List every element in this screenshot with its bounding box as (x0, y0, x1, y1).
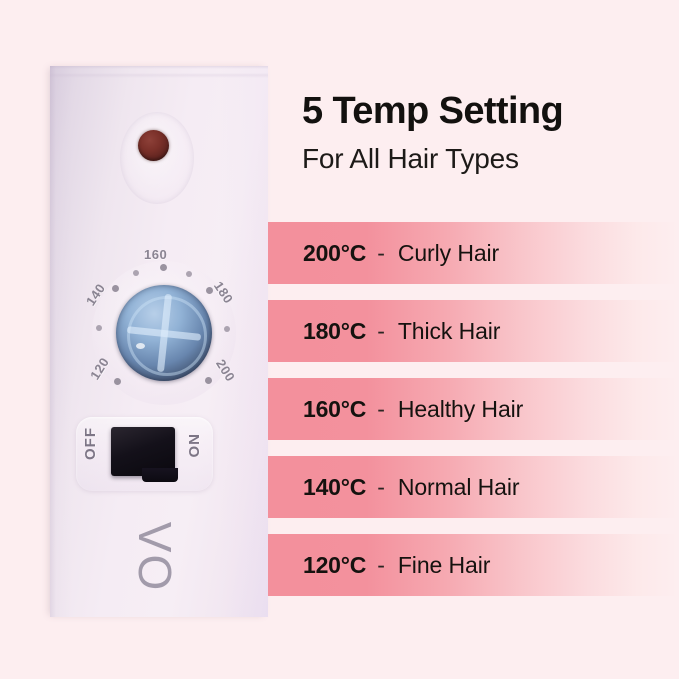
temperature-dial[interactable]: 120 140 160 180 200 (78, 247, 250, 419)
separator-dash: - (377, 240, 385, 267)
power-switch-rocker[interactable] (111, 427, 175, 476)
separator-dash: - (377, 552, 385, 579)
list-item: 120°C - Fine Hair (268, 534, 679, 596)
dial-tick-minor-3 (96, 325, 102, 331)
hair-type-label: Thick Hair (398, 318, 501, 345)
dial-tick-160 (160, 264, 167, 271)
dial-tick-140 (112, 285, 119, 292)
switch-label-off: OFF (82, 427, 99, 460)
temperature-value: 120°C (303, 552, 366, 579)
page-title: 5 Temp Setting (302, 90, 563, 133)
hair-type-label: Curly Hair (398, 240, 499, 267)
separator-dash: - (377, 474, 385, 501)
dial-label-160: 160 (144, 247, 167, 262)
temperature-entry: 120°C - Fine Hair (303, 552, 490, 579)
hair-type-label: Fine Hair (398, 552, 490, 579)
separator-dash: - (377, 318, 385, 345)
temperature-value: 200°C (303, 240, 366, 267)
hair-type-label: Normal Hair (398, 474, 520, 501)
separator-dash: - (377, 396, 385, 423)
dial-knob[interactable] (116, 285, 212, 381)
dial-tick-minor-4 (224, 326, 230, 332)
dial-tick-120 (114, 378, 121, 385)
power-indicator-led-icon (138, 130, 169, 161)
switch-label-on: ON (186, 433, 203, 458)
temperature-entry: 160°C - Healthy Hair (303, 396, 523, 423)
dial-tick-minor-1 (133, 270, 139, 276)
temperature-entry: 140°C - Normal Hair (303, 474, 519, 501)
temperature-entry: 180°C - Thick Hair (303, 318, 500, 345)
list-item: 200°C - Curly Hair (268, 222, 679, 284)
brand-mark: VO (128, 522, 182, 592)
infographic-canvas: 120 140 160 180 200 OFF ON VO 5 Temp Set… (0, 0, 679, 679)
list-item: 160°C - Healthy Hair (268, 378, 679, 440)
temperature-entry: 200°C - Curly Hair (303, 240, 499, 267)
temperature-settings-list: 200°C - Curly Hair 180°C - Thick Hair 16… (268, 222, 679, 596)
dial-tick-minor-2 (186, 271, 192, 277)
temperature-value: 180°C (303, 318, 366, 345)
dial-tick-180 (206, 287, 213, 294)
temperature-value: 160°C (303, 396, 366, 423)
list-item: 180°C - Thick Hair (268, 300, 679, 362)
temperature-value: 140°C (303, 474, 366, 501)
dial-tick-200 (205, 377, 212, 384)
panel-top-seam (50, 66, 268, 82)
hair-type-label: Healthy Hair (398, 396, 523, 423)
list-item: 140°C - Normal Hair (268, 456, 679, 518)
knob-highlight (136, 343, 145, 349)
page-subtitle: For All Hair Types (302, 143, 519, 175)
